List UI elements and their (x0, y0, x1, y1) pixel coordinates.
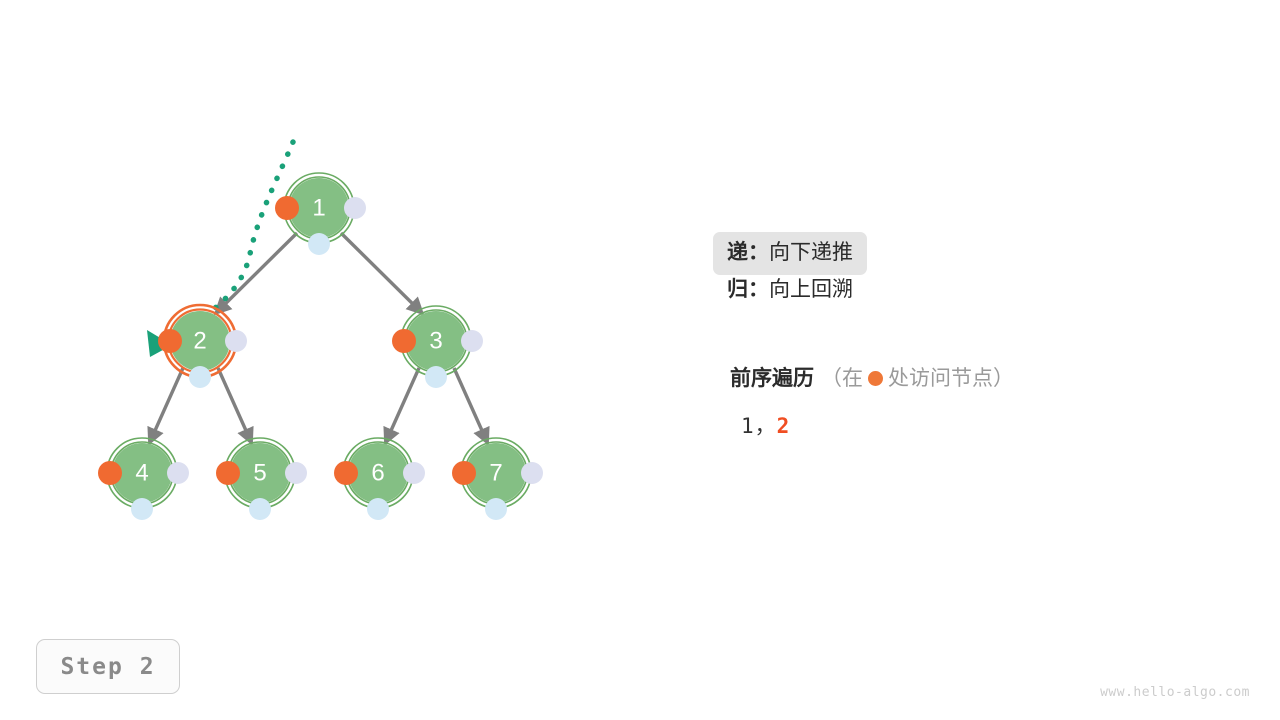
node-2-visit-dot (158, 329, 182, 353)
node-1-bottom-dot (308, 233, 330, 255)
node-1-label: 1 (312, 195, 325, 222)
node-7-right-dot (521, 462, 543, 484)
legend-row-return: 归：向上回溯 (727, 275, 1207, 305)
node-2-right-dot (225, 330, 247, 352)
legend-backtrack-up: 归：向上回溯 (727, 272, 853, 308)
node-5-label: 5 (253, 460, 266, 487)
legend-row-recurse: 递：向下递推 (727, 232, 1207, 275)
node-7-label: 7 (489, 460, 502, 487)
watermark: www.hello-algo.com (1100, 685, 1250, 700)
node-5-right-dot (285, 462, 307, 484)
traversal-title-prefix: （在 (821, 367, 863, 390)
tree-node-5[interactable]: 5 (216, 438, 307, 520)
node-6-visit-dot (334, 461, 358, 485)
node-4-bottom-dot (131, 498, 153, 520)
edge-3-6 (385, 368, 419, 444)
traversal-title: 前序遍历（在处访问节点） (730, 362, 1230, 392)
node-6-label: 6 (371, 460, 384, 487)
node-6-right-dot (403, 462, 425, 484)
tree-node-7[interactable]: 7 (452, 438, 543, 520)
step-badge: Step 2 (36, 639, 180, 694)
legend-recurse-down: 递：向下递推 (713, 232, 867, 275)
node-3-label: 3 (429, 328, 442, 355)
tree-nodes: 1 2 3 4 (98, 173, 543, 520)
legend-backtrack-label: 归： (727, 278, 769, 301)
node-3-bottom-dot (425, 366, 447, 388)
node-7-bottom-dot (485, 498, 507, 520)
traversal-sequence-visited: 1， (741, 414, 777, 438)
traversal-sequence: 1，2 (741, 410, 790, 440)
traversal-title-bold: 前序遍历 (730, 367, 814, 390)
node-1-right-dot (344, 197, 366, 219)
node-6-bottom-dot (367, 498, 389, 520)
node-5-bottom-dot (249, 498, 271, 520)
node-2-bottom-dot (189, 366, 211, 388)
traversal-block: 前序遍历（在处访问节点） (730, 362, 1230, 392)
node-5-visit-dot (216, 461, 240, 485)
edge-3-7 (454, 368, 488, 444)
traversal-sequence-current: 2 (777, 414, 791, 438)
edge-1-3 (341, 233, 423, 314)
legend-backtrack-text: 向上回溯 (769, 278, 853, 301)
node-3-visit-dot (392, 329, 416, 353)
visit-marker-dot-icon (868, 371, 883, 386)
node-3-right-dot (461, 330, 483, 352)
node-1-visit-dot (275, 196, 299, 220)
edge-1-2 (215, 233, 297, 314)
node-4-right-dot (167, 462, 189, 484)
node-4-label: 4 (135, 460, 148, 487)
node-2-label: 2 (193, 328, 206, 355)
tree-node-3[interactable]: 3 (392, 306, 483, 388)
node-4-visit-dot (98, 461, 122, 485)
tree-node-6[interactable]: 6 (334, 438, 425, 520)
binary-tree-diagram: 1 2 3 4 (0, 0, 1280, 720)
tree-node-2[interactable]: 2 (158, 305, 247, 388)
node-7-visit-dot (452, 461, 476, 485)
legend-panel: 递：向下递推 归：向上回溯 (727, 232, 1207, 305)
legend-recurse-text: 向下递推 (769, 241, 853, 264)
edge-2-4 (149, 368, 183, 444)
tree-node-4[interactable]: 4 (98, 438, 189, 520)
edge-2-5 (218, 368, 252, 444)
legend-recurse-label: 递： (727, 241, 769, 264)
traversal-title-suffix: 处访问节点） (888, 367, 1014, 390)
